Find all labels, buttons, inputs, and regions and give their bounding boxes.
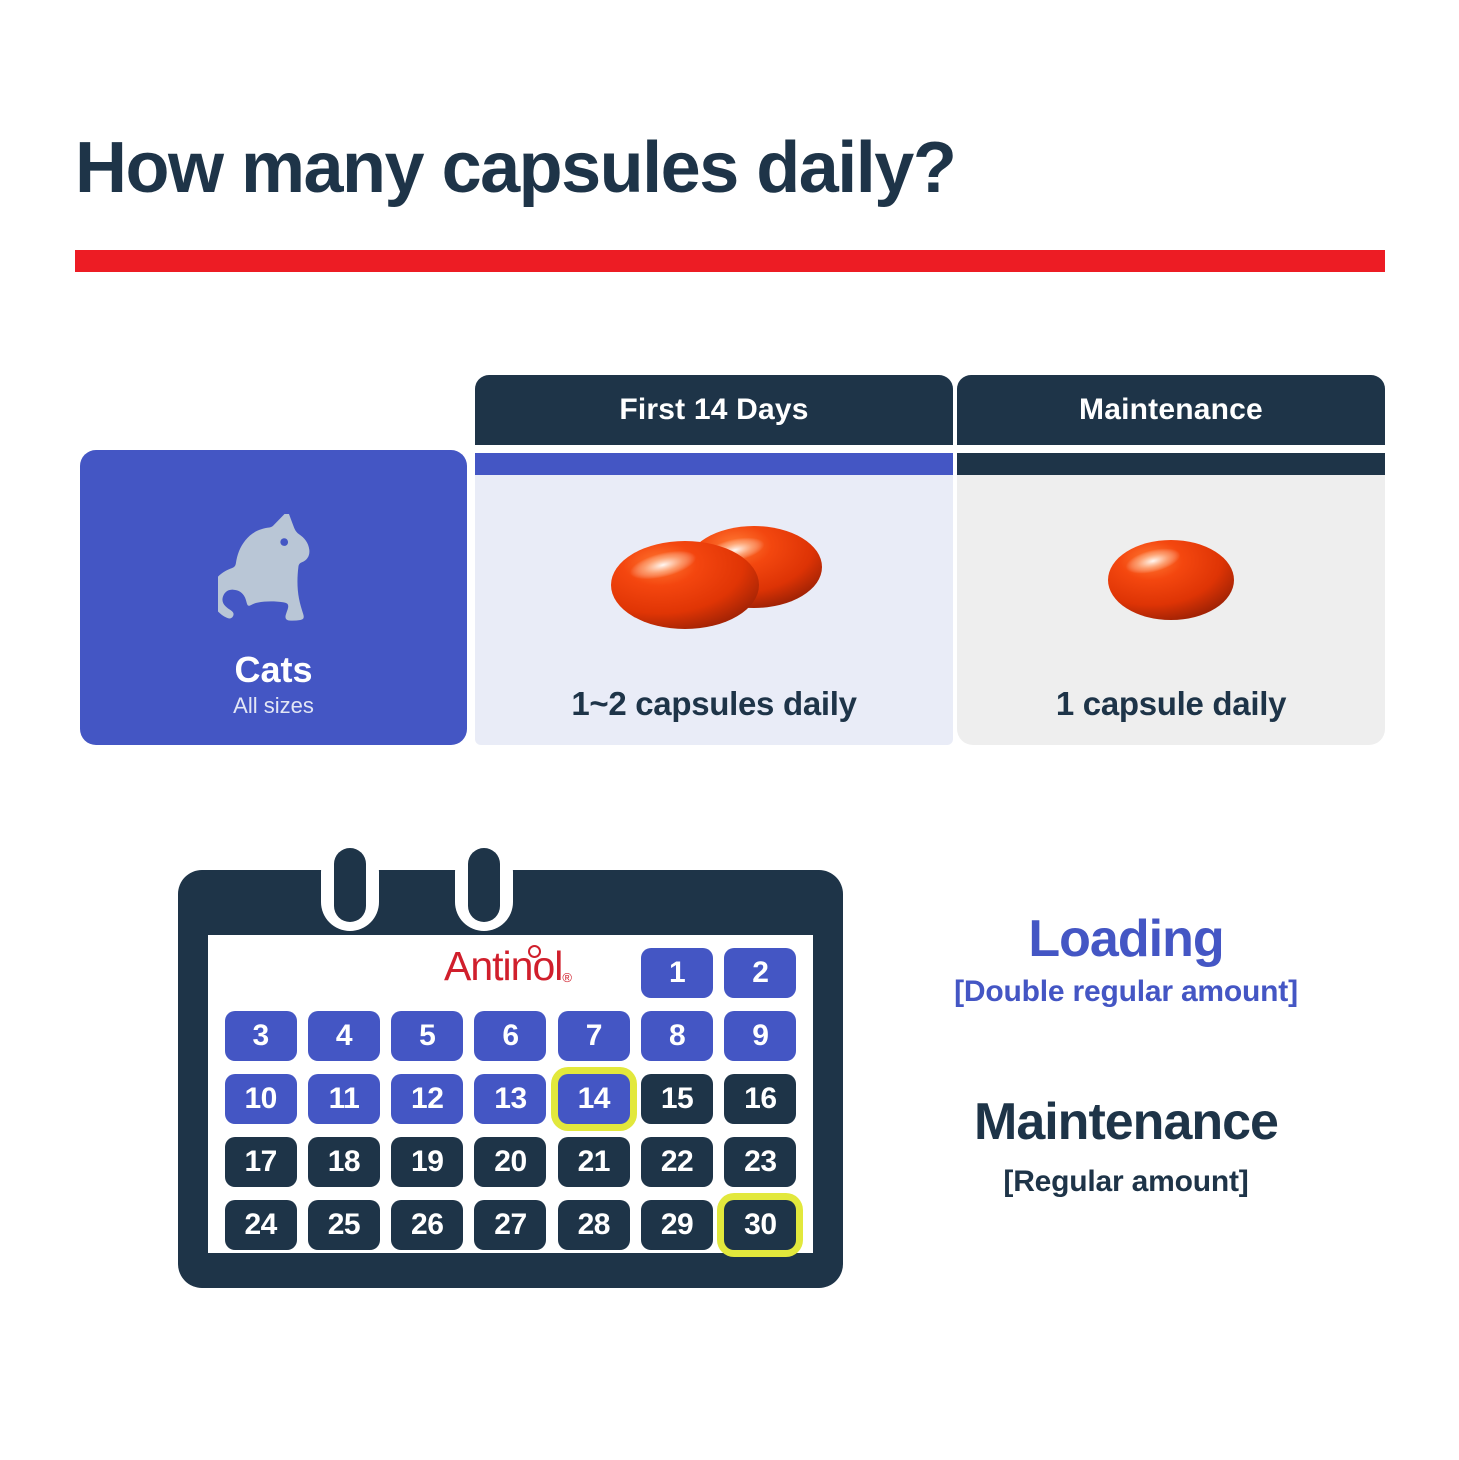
calendar-day-22[interactable]: 22 (641, 1137, 713, 1187)
calendar-day-2[interactable]: 2 (724, 948, 796, 998)
dose-label-first-14-days: 1~2 capsules daily (571, 685, 856, 723)
column-header-first-14-days: First 14 Days (475, 375, 953, 445)
calendar-day-blank (474, 948, 546, 998)
species-name: Cats (234, 651, 312, 689)
accent-bar-maintenance (957, 453, 1385, 475)
calendar-day-30[interactable]: 30 (724, 1200, 796, 1250)
calendar-page: Antinol® 1234567891011121314151617181920… (208, 935, 813, 1253)
calendar-ring-right (455, 843, 513, 931)
calendar-day-29[interactable]: 29 (641, 1200, 713, 1250)
title-underline-rule (75, 250, 1385, 272)
dose-cell-first-14-days: 1~2 capsules daily (475, 475, 953, 745)
cat-silhouette-icon (218, 514, 330, 643)
legend: Loading [Double regular amount] Maintena… (866, 912, 1386, 1199)
calendar-day-blank (391, 948, 463, 998)
calendar-day-blank (308, 948, 380, 998)
calendar-day-grid: 1234567891011121314151617181920212223242… (220, 943, 801, 1255)
calendar-day-6[interactable]: 6 (474, 1011, 546, 1061)
calendar-day-7[interactable]: 7 (558, 1011, 630, 1061)
legend-loading-title: Loading (866, 912, 1386, 967)
species-size-note: All sizes (233, 693, 314, 719)
calendar-day-12[interactable]: 12 (391, 1074, 463, 1124)
dose-cell-maintenance: 1 capsule daily (957, 475, 1385, 745)
dosage-table: First 14 Days Maintenance Cats All sizes (80, 375, 1385, 745)
calendar-day-4[interactable]: 4 (308, 1011, 380, 1061)
capsule-icon-single (1096, 525, 1246, 635)
calendar-day-27[interactable]: 27 (474, 1200, 546, 1250)
calendar-day-20[interactable]: 20 (474, 1137, 546, 1187)
legend-loading-subtitle: [Double regular amount] (866, 975, 1386, 1009)
calendar-day-18[interactable]: 18 (308, 1137, 380, 1187)
calendar-day-blank (225, 948, 297, 998)
page-title: How many capsules daily? (75, 132, 1385, 204)
calendar-day-25[interactable]: 25 (308, 1200, 380, 1250)
calendar-day-10[interactable]: 10 (225, 1074, 297, 1124)
calendar-day-1[interactable]: 1 (641, 948, 713, 998)
column-header-maintenance: Maintenance (957, 375, 1385, 445)
calendar-day-11[interactable]: 11 (308, 1074, 380, 1124)
dose-label-maintenance: 1 capsule daily (1056, 685, 1286, 723)
accent-bar-first-14-days (475, 453, 953, 475)
calendar-day-8[interactable]: 8 (641, 1011, 713, 1061)
calendar-day-17[interactable]: 17 (225, 1137, 297, 1187)
calendar-ring-left (321, 843, 379, 931)
capsule-group-single (957, 475, 1385, 685)
species-cell-cats: Cats All sizes (80, 450, 467, 745)
legend-maintenance-subtitle: [Regular amount] (866, 1165, 1386, 1199)
calendar-day-26[interactable]: 26 (391, 1200, 463, 1250)
capsule-group-two (475, 475, 953, 685)
ring-icon (334, 848, 366, 922)
calendar-day-21[interactable]: 21 (558, 1137, 630, 1187)
calendar-day-19[interactable]: 19 (391, 1137, 463, 1187)
calendar-day-3[interactable]: 3 (225, 1011, 297, 1061)
calendar-day-9[interactable]: 9 (724, 1011, 796, 1061)
calendar-day-15[interactable]: 15 (641, 1074, 713, 1124)
calendar-day-16[interactable]: 16 (724, 1074, 796, 1124)
calendar-day-5[interactable]: 5 (391, 1011, 463, 1061)
calendar-day-13[interactable]: 13 (474, 1074, 546, 1124)
calendar-day-14[interactable]: 14 (558, 1074, 630, 1124)
title-block: How many capsules daily? (75, 132, 1385, 204)
calendar-day-23[interactable]: 23 (724, 1137, 796, 1187)
legend-maintenance-title: Maintenance (866, 1095, 1386, 1150)
calendar-day-24[interactable]: 24 (225, 1200, 297, 1250)
calendar-day-28[interactable]: 28 (558, 1200, 630, 1250)
capsule-icon-double (599, 523, 829, 638)
calendar-day-blank (558, 948, 630, 998)
calendar: Antinol® 1234567891011121314151617181920… (178, 843, 843, 1288)
ring-icon (468, 848, 500, 922)
